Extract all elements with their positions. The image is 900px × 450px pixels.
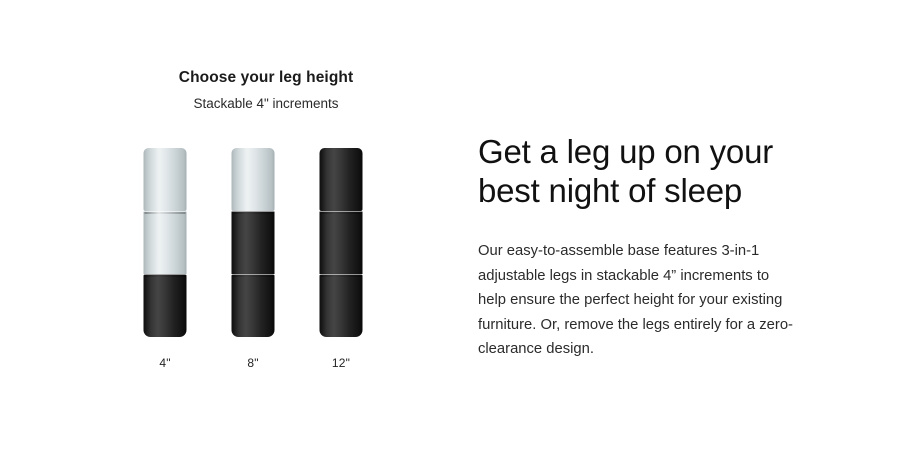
leg-option-8in[interactable]: 8" — [223, 138, 283, 378]
promo-headline-line-1: Get a leg up on your — [478, 132, 828, 171]
leg-options-row: 4" 8" 12" — [96, 138, 436, 378]
promo-headline: Get a leg up on your best night of sleep — [478, 132, 828, 210]
leg-stack-4in — [144, 148, 187, 337]
leg-caption-8in: 8" — [223, 356, 283, 370]
leg-segment-dark — [144, 274, 187, 337]
promo-body-text: Our easy-to-assemble base features 3-in-… — [478, 239, 798, 362]
promo-copy: Get a leg up on your best night of sleep… — [478, 132, 828, 362]
leg-stack-8in — [232, 148, 275, 337]
leg-option-12in[interactable]: 12" — [311, 138, 371, 378]
leg-segment-light — [232, 148, 275, 211]
promo-page: Choose your leg height Stackable 4" incr… — [0, 0, 900, 450]
leg-segment-light — [144, 148, 187, 211]
promo-headline-line-2: best night of sleep — [478, 171, 828, 210]
leg-height-heading: Choose your leg height — [96, 68, 436, 88]
leg-caption-12in: 12" — [311, 356, 371, 370]
leg-height-header: Choose your leg height Stackable 4" incr… — [96, 68, 436, 113]
leg-segment-dark — [320, 211, 363, 274]
leg-option-4in[interactable]: 4" — [135, 138, 195, 378]
leg-segment-dark — [320, 274, 363, 337]
leg-height-subheading: Stackable 4" increments — [96, 95, 436, 113]
leg-segment-dark — [232, 274, 275, 337]
leg-segment-light — [144, 211, 187, 274]
leg-segment-dark — [320, 148, 363, 211]
leg-stack-12in — [320, 148, 363, 337]
leg-segment-dark — [232, 211, 275, 274]
leg-caption-4in: 4" — [135, 356, 195, 370]
